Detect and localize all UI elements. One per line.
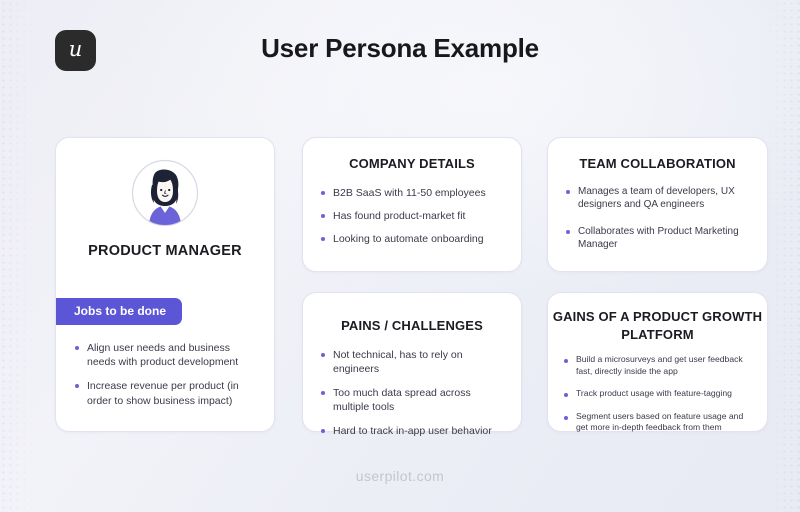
list-item: Collaborates with Product Marketing Mana… — [565, 225, 751, 252]
company-details-list: B2B SaaS with 11-50 employees Has found … — [320, 186, 505, 247]
list-item: Has found product-market fit — [320, 209, 505, 223]
list-item: Align user needs and business needs with… — [74, 341, 260, 369]
team-collaboration-card: TEAM COLLABORATION Manages a team of dev… — [547, 137, 768, 272]
persona-card: PRODUCT MANAGER Jobs to be done Align us… — [55, 137, 275, 432]
pains-challenges-card: PAINS / CHALLENGES Not technical, has to… — [302, 292, 522, 432]
card-title: COMPANY DETAILS — [303, 138, 521, 173]
jobs-list: Align user needs and business needs with… — [74, 341, 260, 418]
avatar — [131, 159, 199, 227]
pains-challenges-list: Not technical, has to rely on engineers … — [320, 348, 507, 439]
list-item: Hard to track in-app user behavior — [320, 424, 507, 438]
dot-grid-left-decoration — [0, 0, 34, 512]
list-item: Looking to automate onboarding — [320, 232, 505, 246]
list-item: Segment users based on feature usage and… — [563, 411, 753, 434]
female-persona-avatar-icon — [131, 159, 199, 227]
page-title: User Persona Example — [0, 33, 800, 64]
list-item: B2B SaaS with 11-50 employees — [320, 186, 505, 200]
list-item: Increase revenue per product (in order t… — [74, 379, 260, 407]
persona-role-title: PRODUCT MANAGER — [56, 243, 274, 259]
list-item: Build a microsurveys and get user feedba… — [563, 354, 753, 377]
list-item: Manages a team of developers, UX designe… — [565, 185, 751, 212]
list-item: Too much data spread across multiple too… — [320, 386, 507, 414]
card-title: GAINS OF A PRODUCT GROWTH PLATFORM — [548, 293, 767, 343]
poster-canvas: u User Persona Example — [0, 0, 800, 512]
gains-platform-card: GAINS OF A PRODUCT GROWTH PLATFORM Build… — [547, 292, 768, 432]
gains-platform-list: Build a microsurveys and get user feedba… — [563, 354, 753, 434]
team-collaboration-list: Manages a team of developers, UX designe… — [565, 185, 751, 252]
list-item: Not technical, has to rely on engineers — [320, 348, 507, 376]
list-item: Track product usage with feature-tagging — [563, 388, 753, 400]
jobs-to-be-done-badge: Jobs to be done — [55, 298, 182, 325]
card-title: PAINS / CHALLENGES — [303, 293, 521, 335]
card-title: TEAM COLLABORATION — [548, 138, 767, 173]
company-details-card: COMPANY DETAILS B2B SaaS with 11-50 empl… — [302, 137, 522, 272]
footer-website: userpilot.com — [0, 468, 800, 484]
